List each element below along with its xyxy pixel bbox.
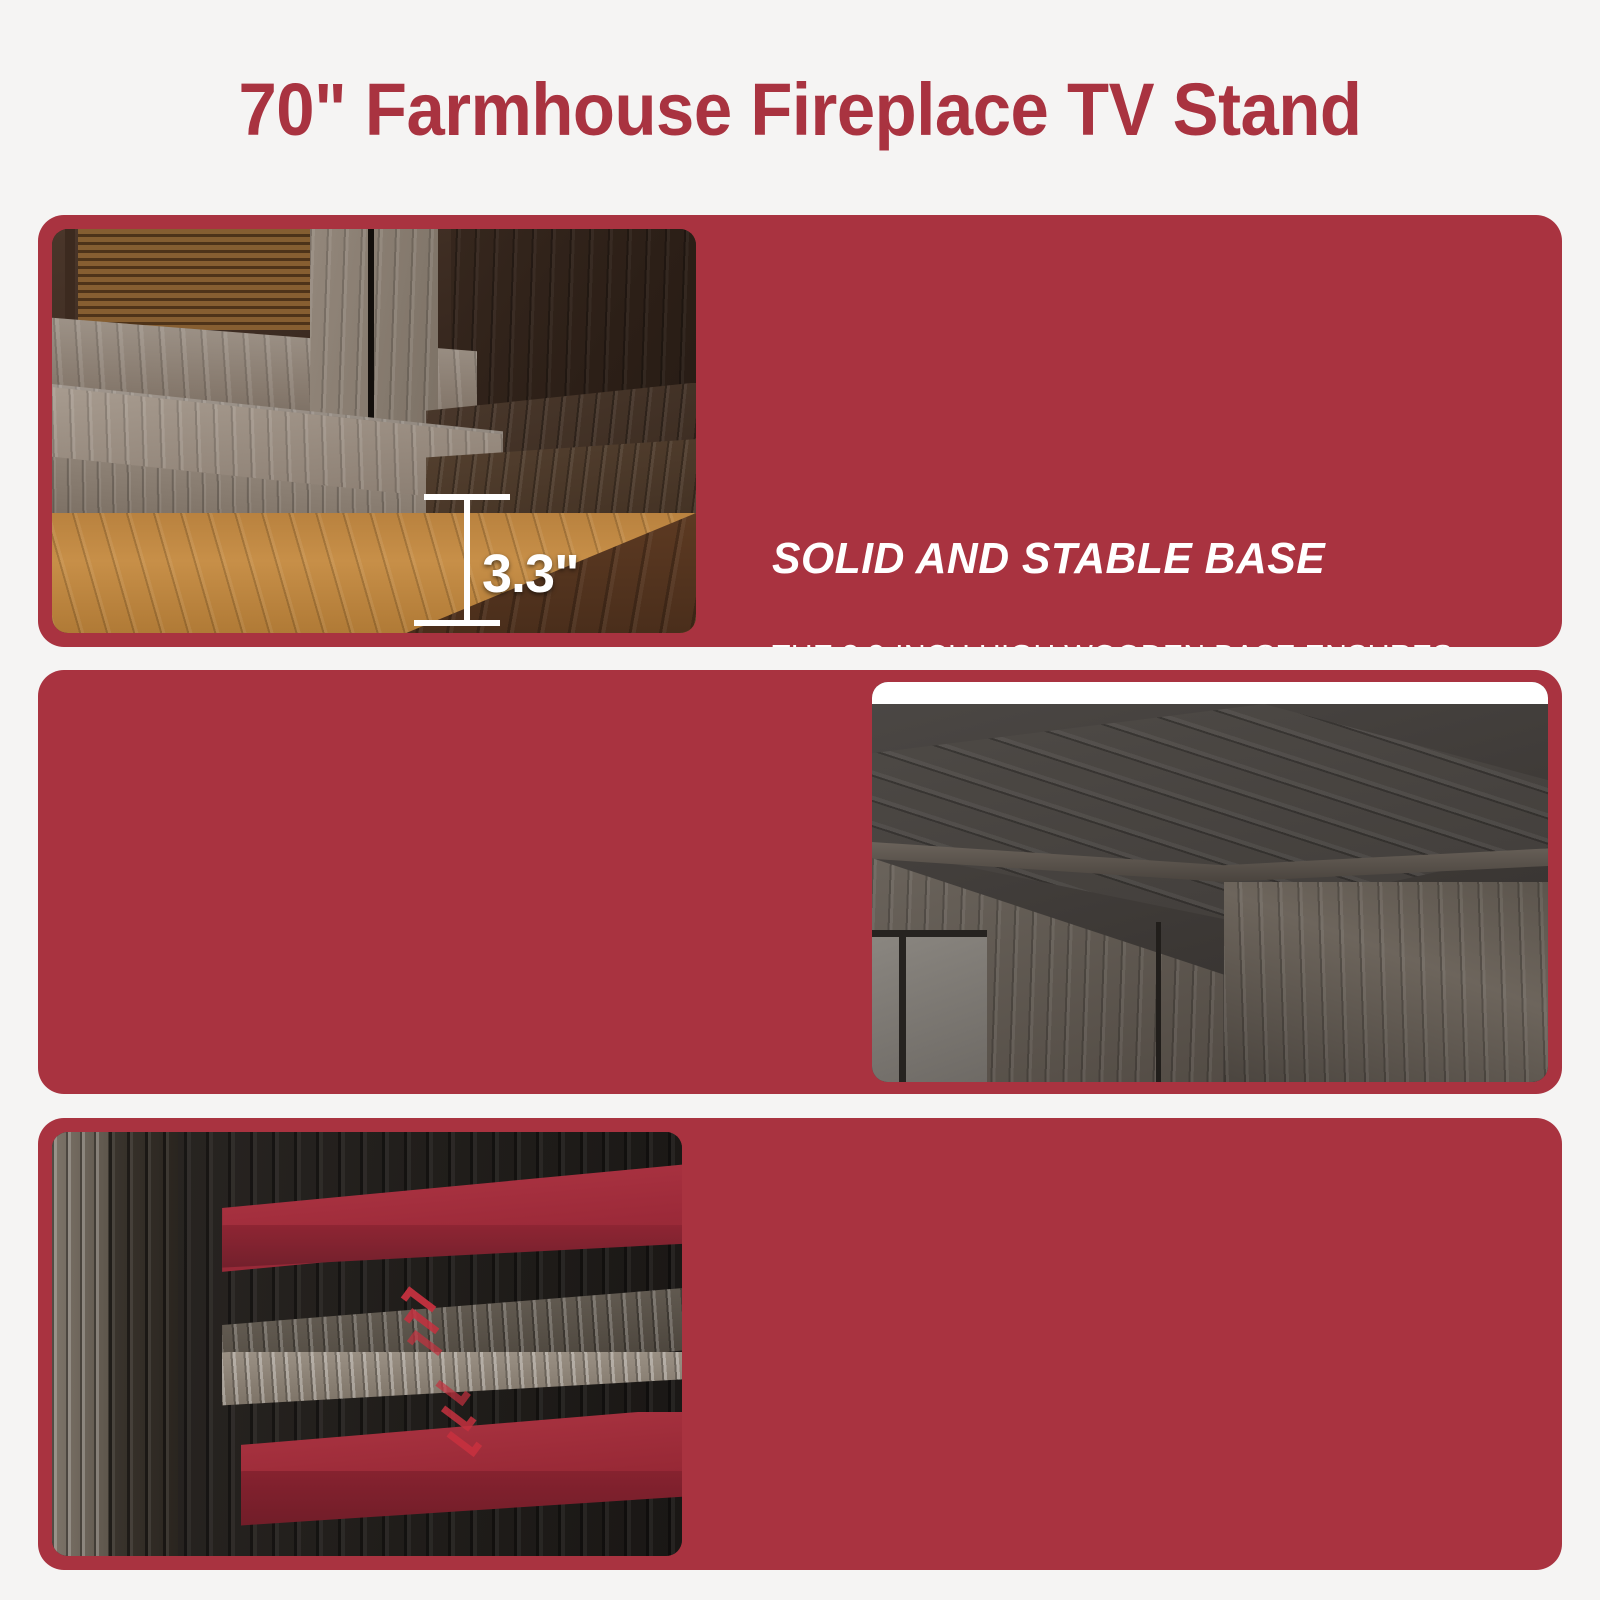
page-title: 70" Farmhouse Fireplace TV Stand (56, 62, 1544, 158)
dimension-vertical-line (464, 494, 470, 626)
product-feature-infographic: 70" Farmhouse Fireplace TV Stand 3.3" (0, 0, 1600, 1600)
product-photo-adjustable-shelves (52, 1132, 682, 1556)
feature-panel-solid-and-stable-base: 3.3" SOLID AND STABLE BASE THE 3.3-INCH … (38, 215, 1562, 647)
feature-body-solid-and-stable-base: THE 3.3-INCH HIGH WOODEN BASE ENSURES ST… (772, 627, 1497, 647)
glass-door-mullion-horizontal (872, 930, 987, 937)
cabinet-glass-door (872, 930, 987, 1082)
feature-heading-solid-and-stable-base: SOLID AND STABLE BASE (772, 533, 1490, 585)
feature-panel-high-grade-mdf: HIGH-GRADE MDF THE BOARD IS THICKENED AN… (38, 670, 1562, 1094)
glass-door-mullion-vertical (899, 930, 906, 1082)
dimension-cap-bottom (414, 620, 500, 626)
cabinet-left-inner-panel (109, 1132, 178, 1556)
chevron-down-icon (446, 1425, 482, 1457)
product-photo-base-corner: 3.3" (52, 229, 696, 633)
cabinet-left-outer-panel (52, 1132, 109, 1556)
feature-panel-adjustable-shelves: ADJUSTABLE SHELVES ADJUSTABLE SHELVES FO… (38, 1118, 1562, 1570)
dimension-label: 3.3" (482, 547, 579, 601)
cabinet-corner-seam (1156, 922, 1161, 1082)
photo-white-strip (872, 682, 1548, 704)
chevron-down-icon (435, 1375, 471, 1407)
cabinet-side-face (1224, 882, 1548, 1082)
product-photo-top-corner (872, 682, 1548, 1082)
chevron-down-icon (441, 1400, 477, 1432)
feature-text-block-base: SOLID AND STABLE BASE THE 3.3-INCH HIGH … (772, 533, 1512, 647)
